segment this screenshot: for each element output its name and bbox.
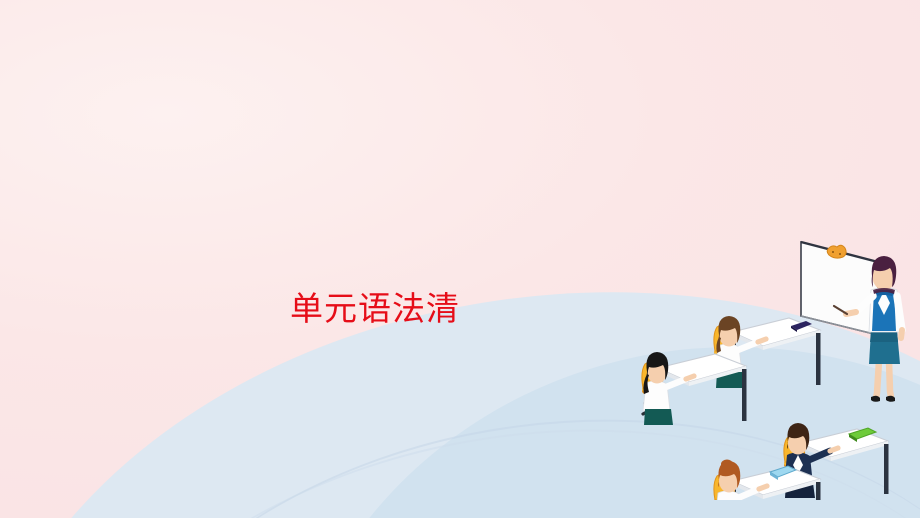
classroom-illustration [640,238,920,500]
slide-canvas: 单元语法清 [0,0,920,518]
whiteboard [801,242,878,335]
page-title: 单元语法清 [290,288,460,329]
